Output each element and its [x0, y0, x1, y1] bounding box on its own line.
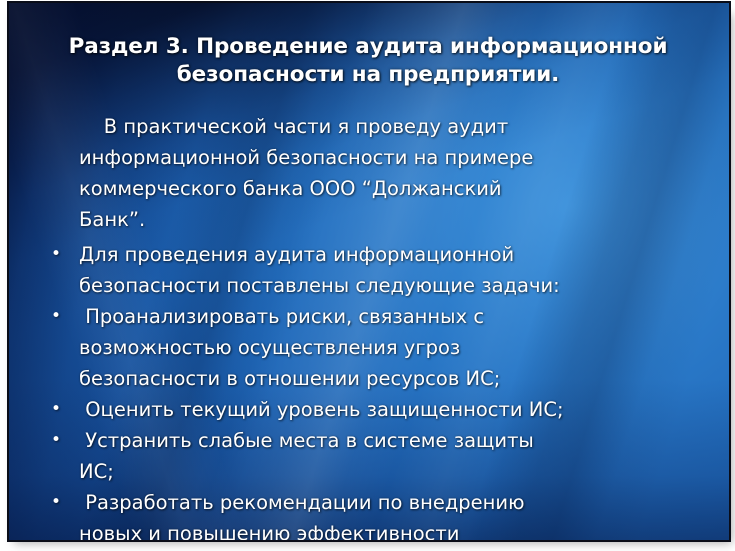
clipped-bottom-text-line: существующих мер защиты ИС. [43, 537, 729, 540]
intro-paragraph: В практической части я проведу аудит инф… [43, 111, 703, 235]
bullet-point-icon: • [51, 394, 73, 425]
intro-paragraph-line-2: информационной безопасности на примере [79, 142, 703, 173]
intro-paragraph-line-3: коммерческого банка ООО “Должанский [79, 173, 703, 204]
intro-paragraph-line-1: В практической части я проведу аудит [79, 111, 703, 142]
bullet-item-2-line-1: Проанализировать риски, связанных с [79, 301, 703, 332]
bullet-item-5-line-1: Разработать рекомендации по внедрению [79, 487, 703, 518]
bullet-list-item: • Оценить текущий уровень защищенности И… [43, 394, 703, 425]
bullet-item-3-line-1: Оценить текущий уровень защищенности ИС; [79, 394, 703, 425]
slide-canvas: Раздел 3. Проведение аудита информационн… [9, 3, 729, 540]
bullet-item-2-line-2: возможностью осуществления угроз [79, 332, 703, 363]
bullet-item-1-text: Для проведения аудита информационной без… [73, 239, 703, 301]
intro-paragraph-line-4: Банк”. [79, 204, 703, 235]
slide-content: Раздел 3. Проведение аудита информационн… [9, 3, 729, 540]
bullet-item-4-line-2: ИС; [79, 456, 703, 487]
bullet-item-1-line-2: безопасности поставлены следующие задачи… [79, 270, 703, 301]
bullet-item-3-text: Оценить текущий уровень защищенности ИС; [73, 394, 703, 425]
bullet-item-5-text: Разработать рекомендации по внедрению но… [73, 487, 703, 540]
slide-title: Раздел 3. Проведение аудита информационн… [43, 33, 693, 89]
bullet-item-2-line-3: безопасности в отношении ресурсов ИС; [79, 363, 703, 394]
bullet-item-4-text: Устранить слабые места в системе защиты … [73, 425, 703, 487]
bullet-item-4-line-1: Устранить слабые места в системе защиты [79, 425, 703, 456]
slide-body: В практической части я проведу аудит инф… [43, 111, 703, 540]
bullet-list-item: • Разработать рекомендации по внедрению … [43, 487, 703, 540]
bullet-list-item: • Проанализировать риски, связанных с во… [43, 301, 703, 394]
bullet-list-item: • Для проведения аудита информационной б… [43, 239, 703, 301]
slide-title-line-1: Раздел 3. Проведение аудита информационн… [43, 33, 693, 61]
bullet-point-icon: • [51, 239, 73, 270]
bullet-item-2-text: Проанализировать риски, связанных с возм… [73, 301, 703, 394]
bullet-point-icon: • [51, 301, 73, 332]
slide-title-line-2: безопасности на предприятии. [43, 61, 693, 89]
bullet-point-icon: • [51, 425, 73, 456]
slide-frame-border: Раздел 3. Проведение аудита информационн… [7, 1, 731, 542]
bullet-point-icon: • [51, 487, 73, 518]
bullet-item-1-line-1: Для проведения аудита информационной [79, 239, 703, 270]
slide-page: Раздел 3. Проведение аудита информационн… [0, 0, 735, 551]
bullet-list-item: • Устранить слабые места в системе защит… [43, 425, 703, 487]
